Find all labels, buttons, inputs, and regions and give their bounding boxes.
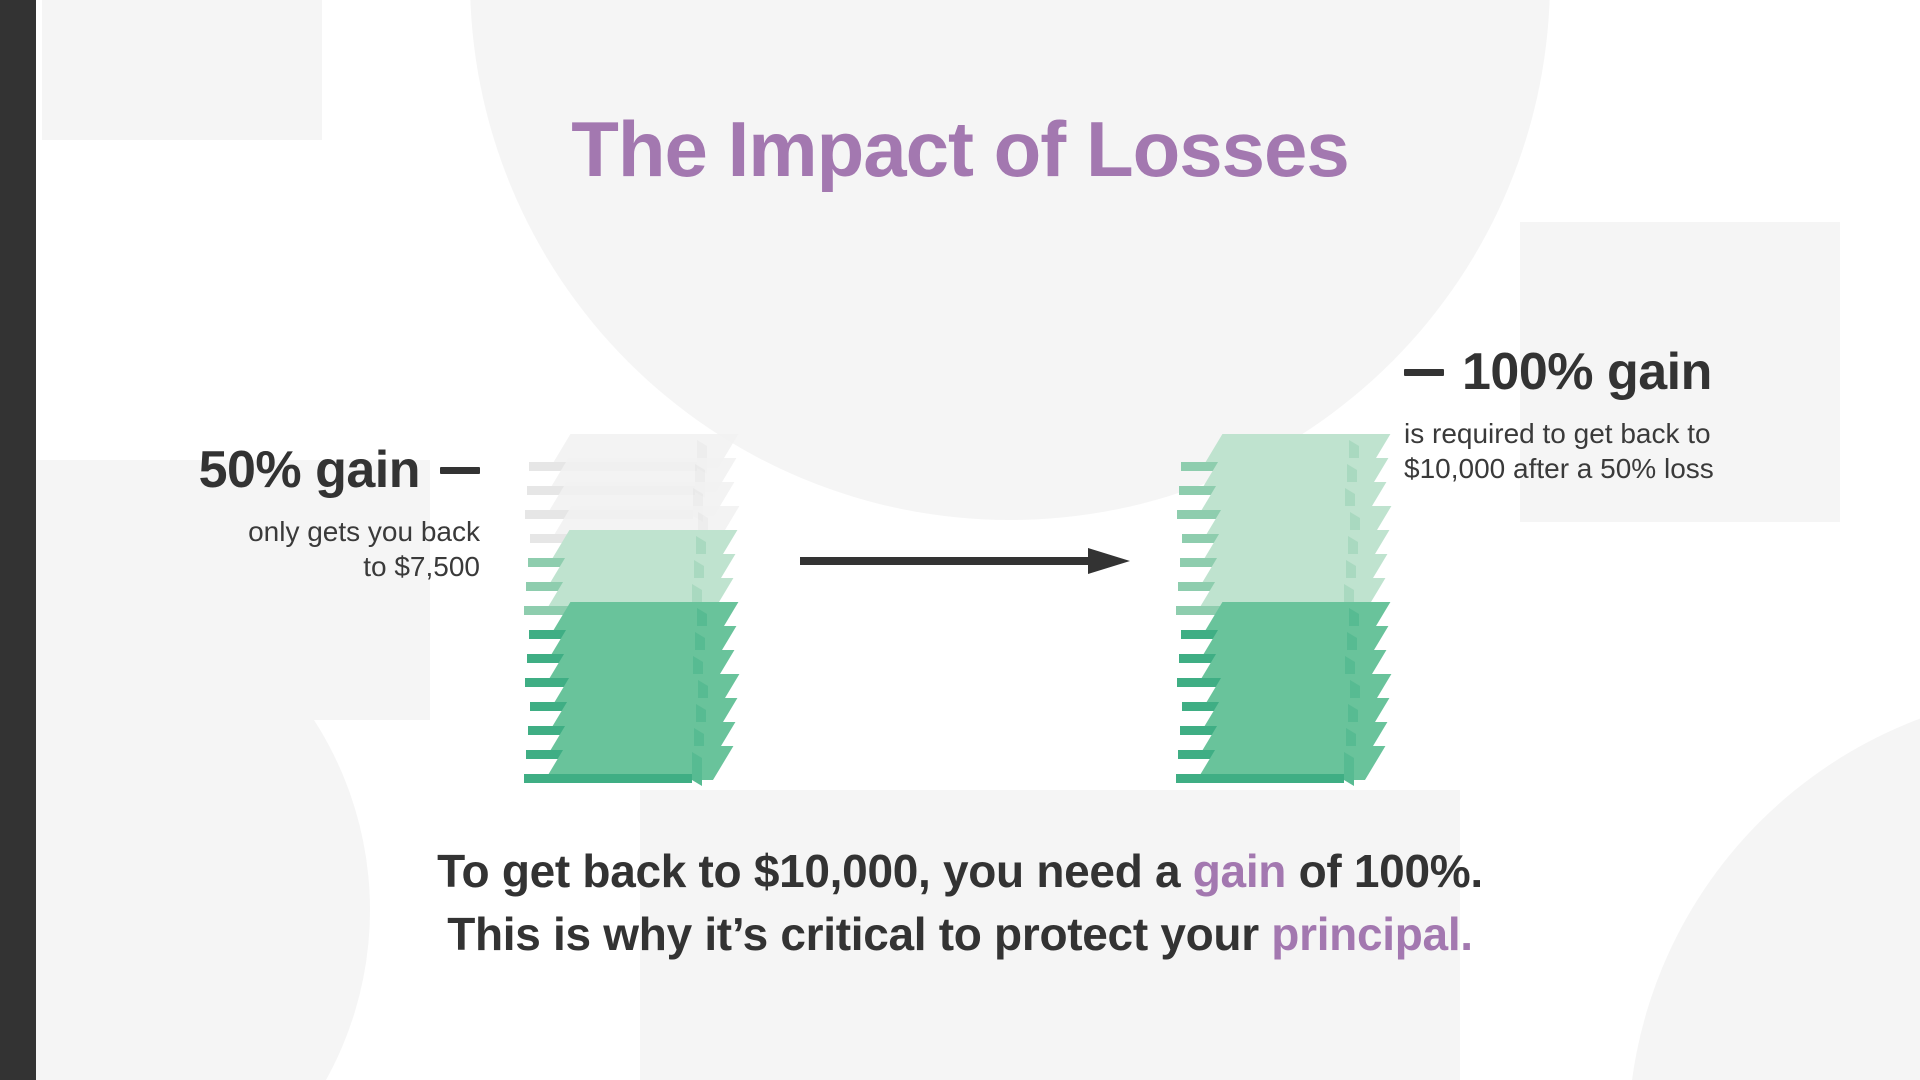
- left-callout-subtext: only gets you back to $7,500: [60, 514, 480, 584]
- right-callout-subline-1: is required to get back to: [1404, 416, 1864, 451]
- arrow-right-icon: [800, 548, 1130, 574]
- right-callout: 100% gain is required to get back to $10…: [1404, 342, 1864, 486]
- bill-side-face: [1344, 752, 1354, 786]
- left-callout-headline-row: 50% gain: [60, 440, 480, 500]
- left-callout-subline-1: only gets you back: [60, 514, 480, 549]
- right-callout-headline-row: 100% gain: [1404, 342, 1864, 402]
- background-circle-bottom-left: [0, 560, 370, 1080]
- page-title: The Impact of Losses: [0, 104, 1920, 195]
- left-callout-subline-2: to $7,500: [60, 549, 480, 584]
- left-callout-headline: 50% gain: [199, 440, 420, 500]
- bill-front-face: [524, 774, 692, 783]
- takeaway-line2-accent: principal.: [1271, 908, 1473, 960]
- takeaway-line1-part1: To get back to $10,000, you need a: [437, 845, 1193, 897]
- takeaway-line-1: To get back to $10,000, you need a gain …: [0, 840, 1920, 903]
- arrow-shaft: [800, 557, 1095, 565]
- takeaway-line-2: This is why it’s critical to protect you…: [0, 903, 1920, 966]
- bill-side-face: [692, 752, 702, 786]
- right-callout-subline-2: $10,000 after a 50% loss: [1404, 451, 1864, 486]
- dash-leader-icon: [1404, 369, 1444, 376]
- takeaway-text: To get back to $10,000, you need a gain …: [0, 840, 1920, 967]
- right-callout-subtext: is required to get back to $10,000 after…: [1404, 416, 1864, 486]
- right-callout-headline: 100% gain: [1462, 342, 1712, 402]
- slide-canvas: The Impact of Losses 50% gain only gets …: [0, 0, 1920, 1080]
- arrow-head: [1088, 548, 1130, 574]
- dash-leader-icon: [440, 467, 480, 474]
- right-money-stack: [1172, 384, 1392, 780]
- left-money-stack: [520, 384, 740, 780]
- takeaway-line1-part2: of 100%.: [1286, 845, 1483, 897]
- money-bill: [1197, 746, 1365, 780]
- left-callout: 50% gain only gets you back to $7,500: [60, 440, 480, 584]
- takeaway-line2-part1: This is why it’s critical to protect you…: [447, 908, 1271, 960]
- money-bill: [545, 746, 713, 780]
- takeaway-line1-accent: gain: [1193, 845, 1286, 897]
- bill-front-face: [1176, 774, 1344, 783]
